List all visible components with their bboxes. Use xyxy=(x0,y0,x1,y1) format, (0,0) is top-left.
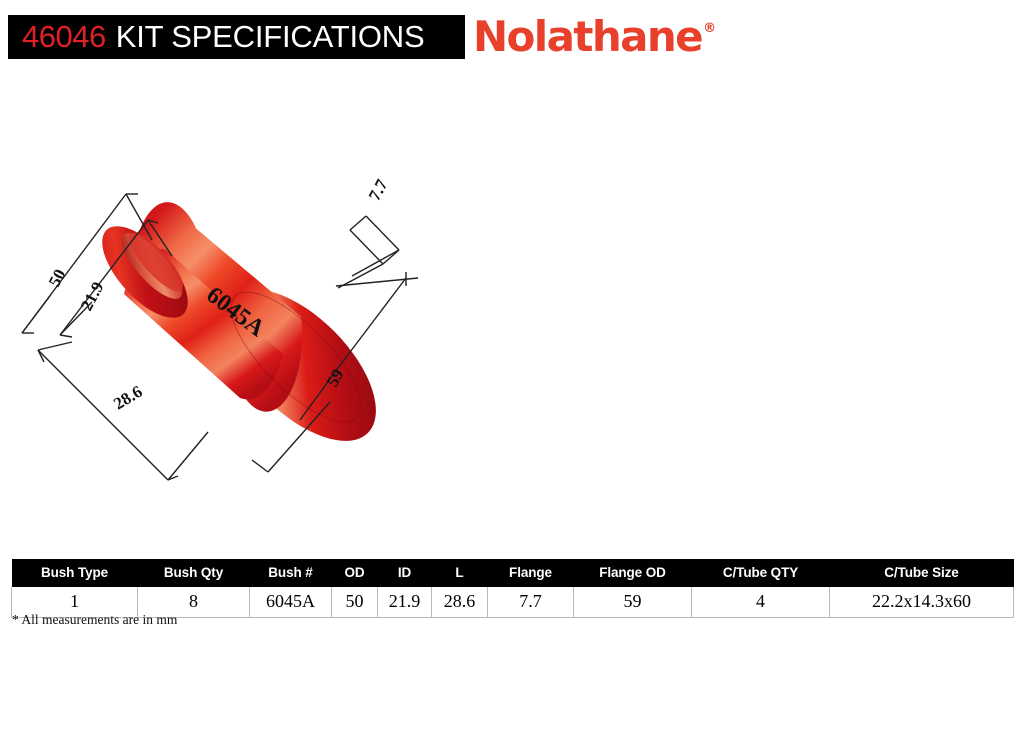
cell-ctube-size: 22.2x14.3x60 xyxy=(830,587,1014,618)
registered-trademark-icon: ® xyxy=(703,14,716,44)
dim-label-outer-diameter: 50 xyxy=(45,266,70,290)
nolathane-logo: Nolathane ® xyxy=(473,14,716,60)
cell-bush-number: 6045A xyxy=(250,587,332,618)
dim-tick-219-a xyxy=(60,335,72,337)
page-title: KIT SPECIFICATIONS xyxy=(116,19,425,55)
table-header-row: Bush Type Bush Qty Bush # OD ID L Flange… xyxy=(12,559,1014,587)
column-header-l: L xyxy=(432,559,488,587)
column-header-bush-number: Bush # xyxy=(250,559,332,587)
bushing-diagram-svg: 50 21.9 28.6 7.7 59 6045A xyxy=(0,80,480,510)
brand-name: Nolathane xyxy=(473,14,702,60)
dim-line-286 xyxy=(38,350,168,480)
column-header-od: OD xyxy=(332,559,378,587)
dim-label-inner-diameter: 21.9 xyxy=(77,279,108,314)
kit-number: 46046 xyxy=(22,19,106,55)
column-header-id: ID xyxy=(378,559,432,587)
cell-ctube-qty: 4 xyxy=(692,587,830,618)
cell-od: 50 xyxy=(332,587,378,618)
specifications-table: Bush Type Bush Qty Bush # OD ID L Flange… xyxy=(11,559,1014,618)
column-header-bush-type: Bush Type xyxy=(12,559,138,587)
cell-flange: 7.7 xyxy=(488,587,574,618)
measurement-units-footnote: * All measurements are in mm xyxy=(12,612,177,628)
dim-ext-286-a xyxy=(38,342,72,350)
dim-line-77-a xyxy=(350,230,383,264)
dim-ext-77-a xyxy=(338,264,383,288)
cell-id: 21.9 xyxy=(378,587,432,618)
column-header-ctube-size: C/Tube Size xyxy=(830,559,1014,587)
bushing-technical-drawing: 50 21.9 28.6 7.7 59 6045A xyxy=(0,80,480,510)
dim-ext-286-b xyxy=(168,432,208,480)
column-header-flange-od: Flange OD xyxy=(574,559,692,587)
dim-line-77-b xyxy=(366,216,399,250)
cell-l: 28.6 xyxy=(432,587,488,618)
dim-ext-50-a xyxy=(22,296,50,333)
dim-tick-59-b xyxy=(252,460,268,472)
dim-label-flange-thickness: 7.7 xyxy=(365,176,392,204)
dim-ext-77-b xyxy=(352,250,399,276)
dim-cap-77-top xyxy=(350,216,366,230)
column-header-bush-qty: Bush Qty xyxy=(138,559,250,587)
dim-line-59 xyxy=(338,278,406,368)
kit-specifications-header: 46046 KIT SPECIFICATIONS xyxy=(8,15,465,59)
column-header-ctube-qty: C/Tube QTY xyxy=(692,559,830,587)
cell-flange-od: 59 xyxy=(574,587,692,618)
column-header-flange: Flange xyxy=(488,559,574,587)
dim-label-length: 28.6 xyxy=(110,382,145,414)
